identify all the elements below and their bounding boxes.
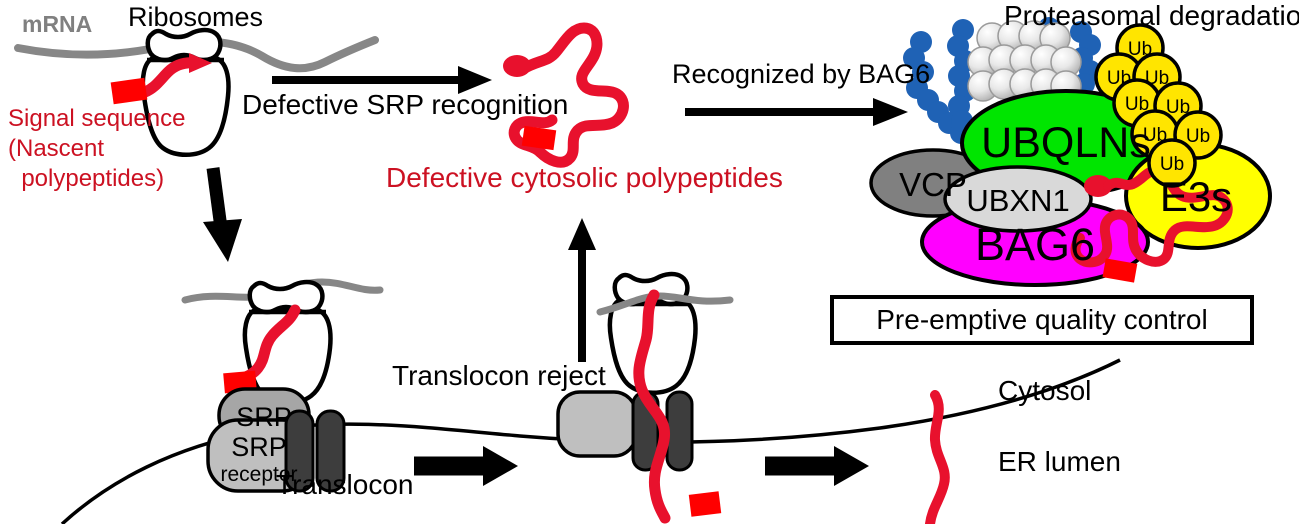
svg-text:Ub: Ub: [1125, 94, 1149, 115]
signal-sequence-label-line1: Signal sequence: [8, 106, 185, 133]
cytosol-label: Cytosol: [998, 375, 1091, 406]
svg-text:Ub: Ub: [1145, 68, 1169, 89]
svg-text:Ub: Ub: [1128, 39, 1152, 60]
translocon-label: Translocon: [276, 469, 413, 500]
svg-text:Ub: Ub: [1166, 97, 1190, 118]
recognized-by-bag6-arrow: [685, 98, 908, 126]
translocon-reject-label: Translocon reject: [392, 360, 606, 391]
svg-text:Ub: Ub: [1107, 68, 1131, 89]
er-transport-arrow-2: [765, 446, 869, 486]
ubxn1-label: UBXN1: [966, 183, 1069, 218]
bag6-label: BAG6: [975, 219, 1095, 270]
er-lumen-label: ER lumen: [998, 446, 1121, 477]
signal-sequence-label-line2: (Nascent: [8, 136, 104, 163]
proteasome-core-spheres: [968, 21, 1081, 101]
translocated-polypeptide: [930, 395, 945, 524]
recognized-by-bag6-label: Recognized by BAG6: [672, 59, 930, 89]
nascent-to-translocation-arrow: [203, 168, 242, 262]
proteasomal-degradation-label: Proteasomal degradation: [1004, 0, 1299, 31]
e3s-label: E3s: [1160, 173, 1232, 220]
pre-emptive-quality-control-box: Pre-emptive quality control: [830, 295, 1254, 345]
mrna-label: mRNA: [22, 12, 92, 38]
srp-receptor-label-line1: SRP: [231, 432, 287, 462]
pre-emptive-quality-control-label: Pre-emptive quality control: [876, 304, 1207, 336]
er-transport-arrow-1: [414, 446, 518, 486]
translocon-reject-arrow: [568, 218, 596, 362]
ribosome-top: [143, 30, 229, 155]
defective-srp-recognition-label: Defective SRP recognition: [242, 89, 568, 120]
signal-sequence-label-line3: polypeptides): [8, 166, 164, 193]
ribosomes-label: Ribosomes: [128, 2, 263, 32]
ubqlns-label: UBQLNs: [981, 119, 1151, 167]
srp-receptor-displaced: [558, 392, 636, 456]
ribosome-translocating: [185, 282, 380, 403]
ribosome-rejecting: [600, 274, 730, 393]
svg-text:Ub: Ub: [1160, 154, 1184, 175]
vcp-label: VCP: [899, 166, 967, 203]
svg-text:Ub: Ub: [1143, 125, 1167, 146]
defective-cytosolic-polypeptides-label: Defective cytosolic polypeptides: [386, 162, 783, 193]
svg-text:Ub: Ub: [1186, 126, 1210, 147]
srp-label: SRP: [236, 402, 292, 432]
figure-canvas: UBQLNs VCP UBXN1 BAG6 E3s Ub Ub Ub Ub Ub…: [0, 0, 1299, 524]
